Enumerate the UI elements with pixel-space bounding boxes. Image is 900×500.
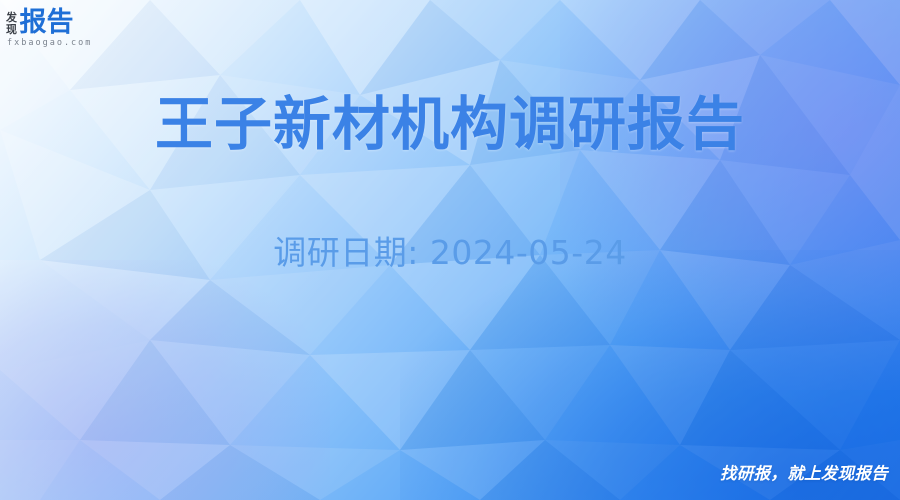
logo-main-text: 报告 bbox=[20, 8, 74, 37]
footer-slogan: 找研报，就上发现报告 bbox=[720, 463, 888, 485]
cover-title: 王子新材机构调研报告 bbox=[0, 88, 900, 160]
report-cover: 发 现 报告 fxbaogao.com 王子新材机构调研报告 调研日期: 202… bbox=[0, 0, 900, 500]
logo-wordmark: 发 现 报告 bbox=[6, 6, 128, 37]
logo-char-xian: 现 bbox=[6, 24, 17, 36]
cover-subtitle-survey-date: 调研日期: 2024-05-24 bbox=[0, 230, 900, 276]
brand-logo[interactable]: 发 现 报告 fxbaogao.com bbox=[6, 6, 128, 52]
logo-url: fxbaogao.com bbox=[6, 38, 128, 48]
logo-stacked-characters: 发 现 bbox=[6, 12, 17, 37]
